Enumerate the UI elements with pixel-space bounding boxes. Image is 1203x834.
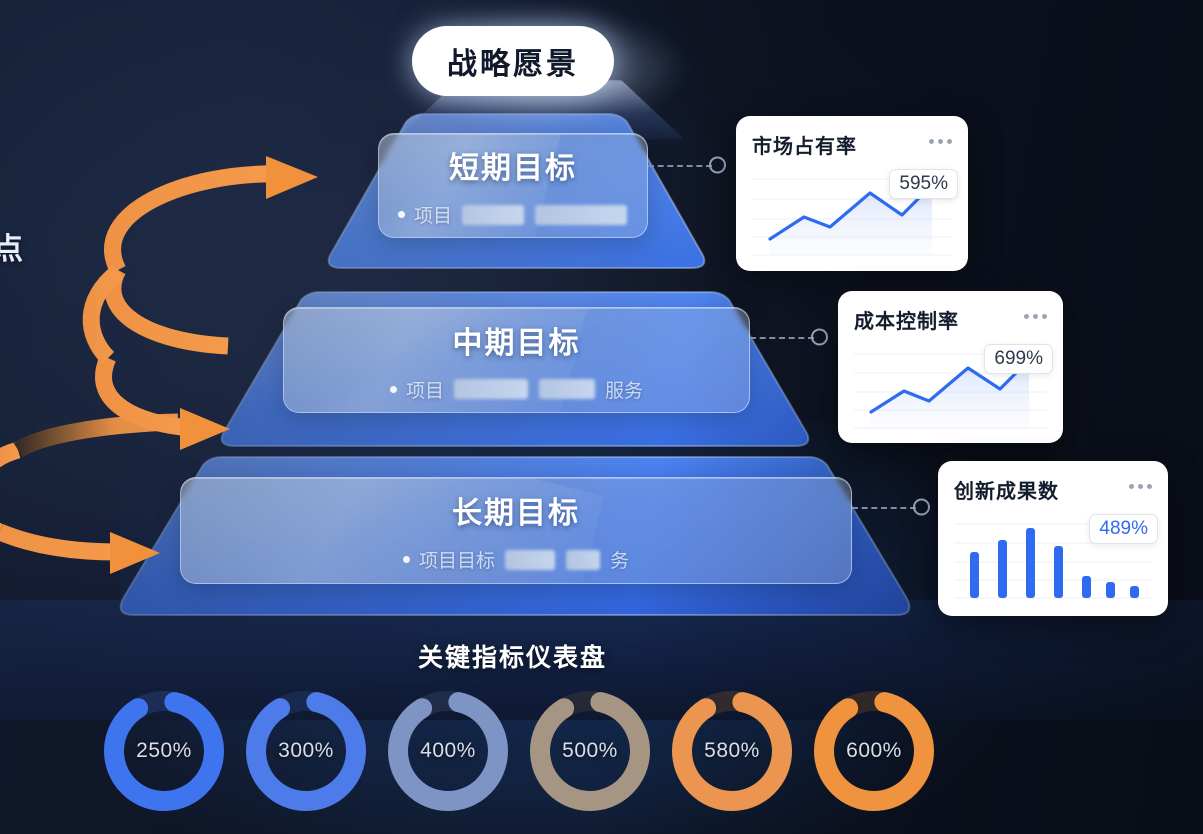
card-cost-control-chart: 699%	[854, 346, 1047, 436]
connector-line	[648, 165, 712, 167]
ring-gauge-400-label: 400%	[382, 685, 514, 817]
redacted-text	[462, 205, 524, 225]
panel-long-term-bullet: 项目目标 务	[403, 546, 629, 573]
card-cost-control-title: 成本控制率	[854, 305, 959, 334]
ring-gauge-250[interactable]: 250%	[98, 685, 230, 817]
panel-mid-term-title: 中期目标	[453, 318, 581, 362]
more-horizontal-icon[interactable]	[1024, 305, 1047, 319]
connector-knob	[811, 329, 828, 346]
connector-line	[750, 337, 814, 339]
bullet-prefix: 项目	[406, 376, 444, 403]
bullet-suffix: 服务	[605, 376, 643, 403]
dashboard-rings: 250% 300% 400% 500%	[98, 685, 948, 820]
bullet-dot	[390, 386, 397, 393]
panel-mid-term[interactable]: 中期目标 项目 服务	[283, 307, 750, 413]
redacted-text	[505, 550, 555, 570]
ring-gauge-600-label: 600%	[808, 685, 940, 817]
more-horizontal-icon[interactable]	[929, 130, 952, 144]
ring-gauge-500-label: 500%	[524, 685, 656, 817]
connector-short-term	[648, 158, 726, 172]
card-market-share-value: 595%	[889, 169, 958, 199]
connector-long-term	[852, 500, 930, 514]
ring-gauge-250-label: 250%	[98, 685, 230, 817]
bullet-prefix: 项目	[414, 201, 452, 228]
card-header: 市场占有率	[752, 130, 952, 159]
connector-knob	[913, 499, 930, 516]
bullet-dot	[403, 556, 410, 563]
dashboard-title: 关键指标仪表盘	[0, 638, 1025, 674]
redacted-text	[566, 550, 600, 570]
ring-gauge-600[interactable]: 600%	[808, 685, 940, 817]
redacted-text	[539, 379, 595, 399]
card-header: 创新成果数	[954, 475, 1152, 504]
infographic-canvas: 点	[0, 0, 1203, 834]
strategic-vision-badge[interactable]: 战略愿景	[412, 26, 614, 96]
panel-short-term-title: 短期目标	[449, 143, 577, 187]
strategic-vision-label: 战略愿景	[447, 39, 579, 83]
panel-short-term-bullet: 项目	[398, 201, 628, 228]
panel-short-term[interactable]: 短期目标 项目	[378, 133, 648, 238]
bullet-prefix: 项目目标	[419, 546, 495, 573]
card-header: 成本控制率	[854, 305, 1047, 334]
more-horizontal-icon[interactable]	[1129, 475, 1152, 489]
card-market-share[interactable]: 市场占有率	[736, 116, 968, 271]
card-innovation-count-title: 创新成果数	[954, 475, 1059, 504]
card-innovation-count-value: 489%	[1089, 514, 1158, 544]
card-market-share-chart: 595%	[752, 171, 952, 263]
card-market-share-title: 市场占有率	[752, 130, 857, 159]
card-cost-control-value: 699%	[984, 344, 1053, 374]
ring-gauge-500[interactable]: 500%	[524, 685, 656, 817]
connector-knob	[709, 157, 726, 174]
ring-gauge-580[interactable]: 580%	[666, 685, 798, 817]
redacted-text	[535, 205, 627, 225]
arrow-bottom	[0, 422, 178, 574]
ring-gauge-580-label: 580%	[666, 685, 798, 817]
bullet-dot	[398, 211, 405, 218]
redacted-text	[454, 379, 528, 399]
ring-gauge-300[interactable]: 300%	[240, 685, 372, 817]
ring-gauge-400[interactable]: 400%	[382, 685, 514, 817]
ring-gauge-300-label: 300%	[240, 685, 372, 817]
panel-long-term-title: 长期目标	[452, 488, 580, 532]
card-innovation-count[interactable]: 创新成果数	[938, 461, 1168, 616]
connector-line	[852, 507, 916, 509]
card-cost-control[interactable]: 成本控制率	[838, 291, 1063, 443]
panel-mid-term-bullet: 项目 服务	[390, 376, 643, 403]
panel-long-term[interactable]: 长期目标 项目目标 务	[180, 477, 852, 584]
card-innovation-count-chart: 489%	[954, 516, 1152, 608]
bullet-suffix: 务	[610, 546, 629, 573]
connector-mid-term	[750, 330, 828, 344]
